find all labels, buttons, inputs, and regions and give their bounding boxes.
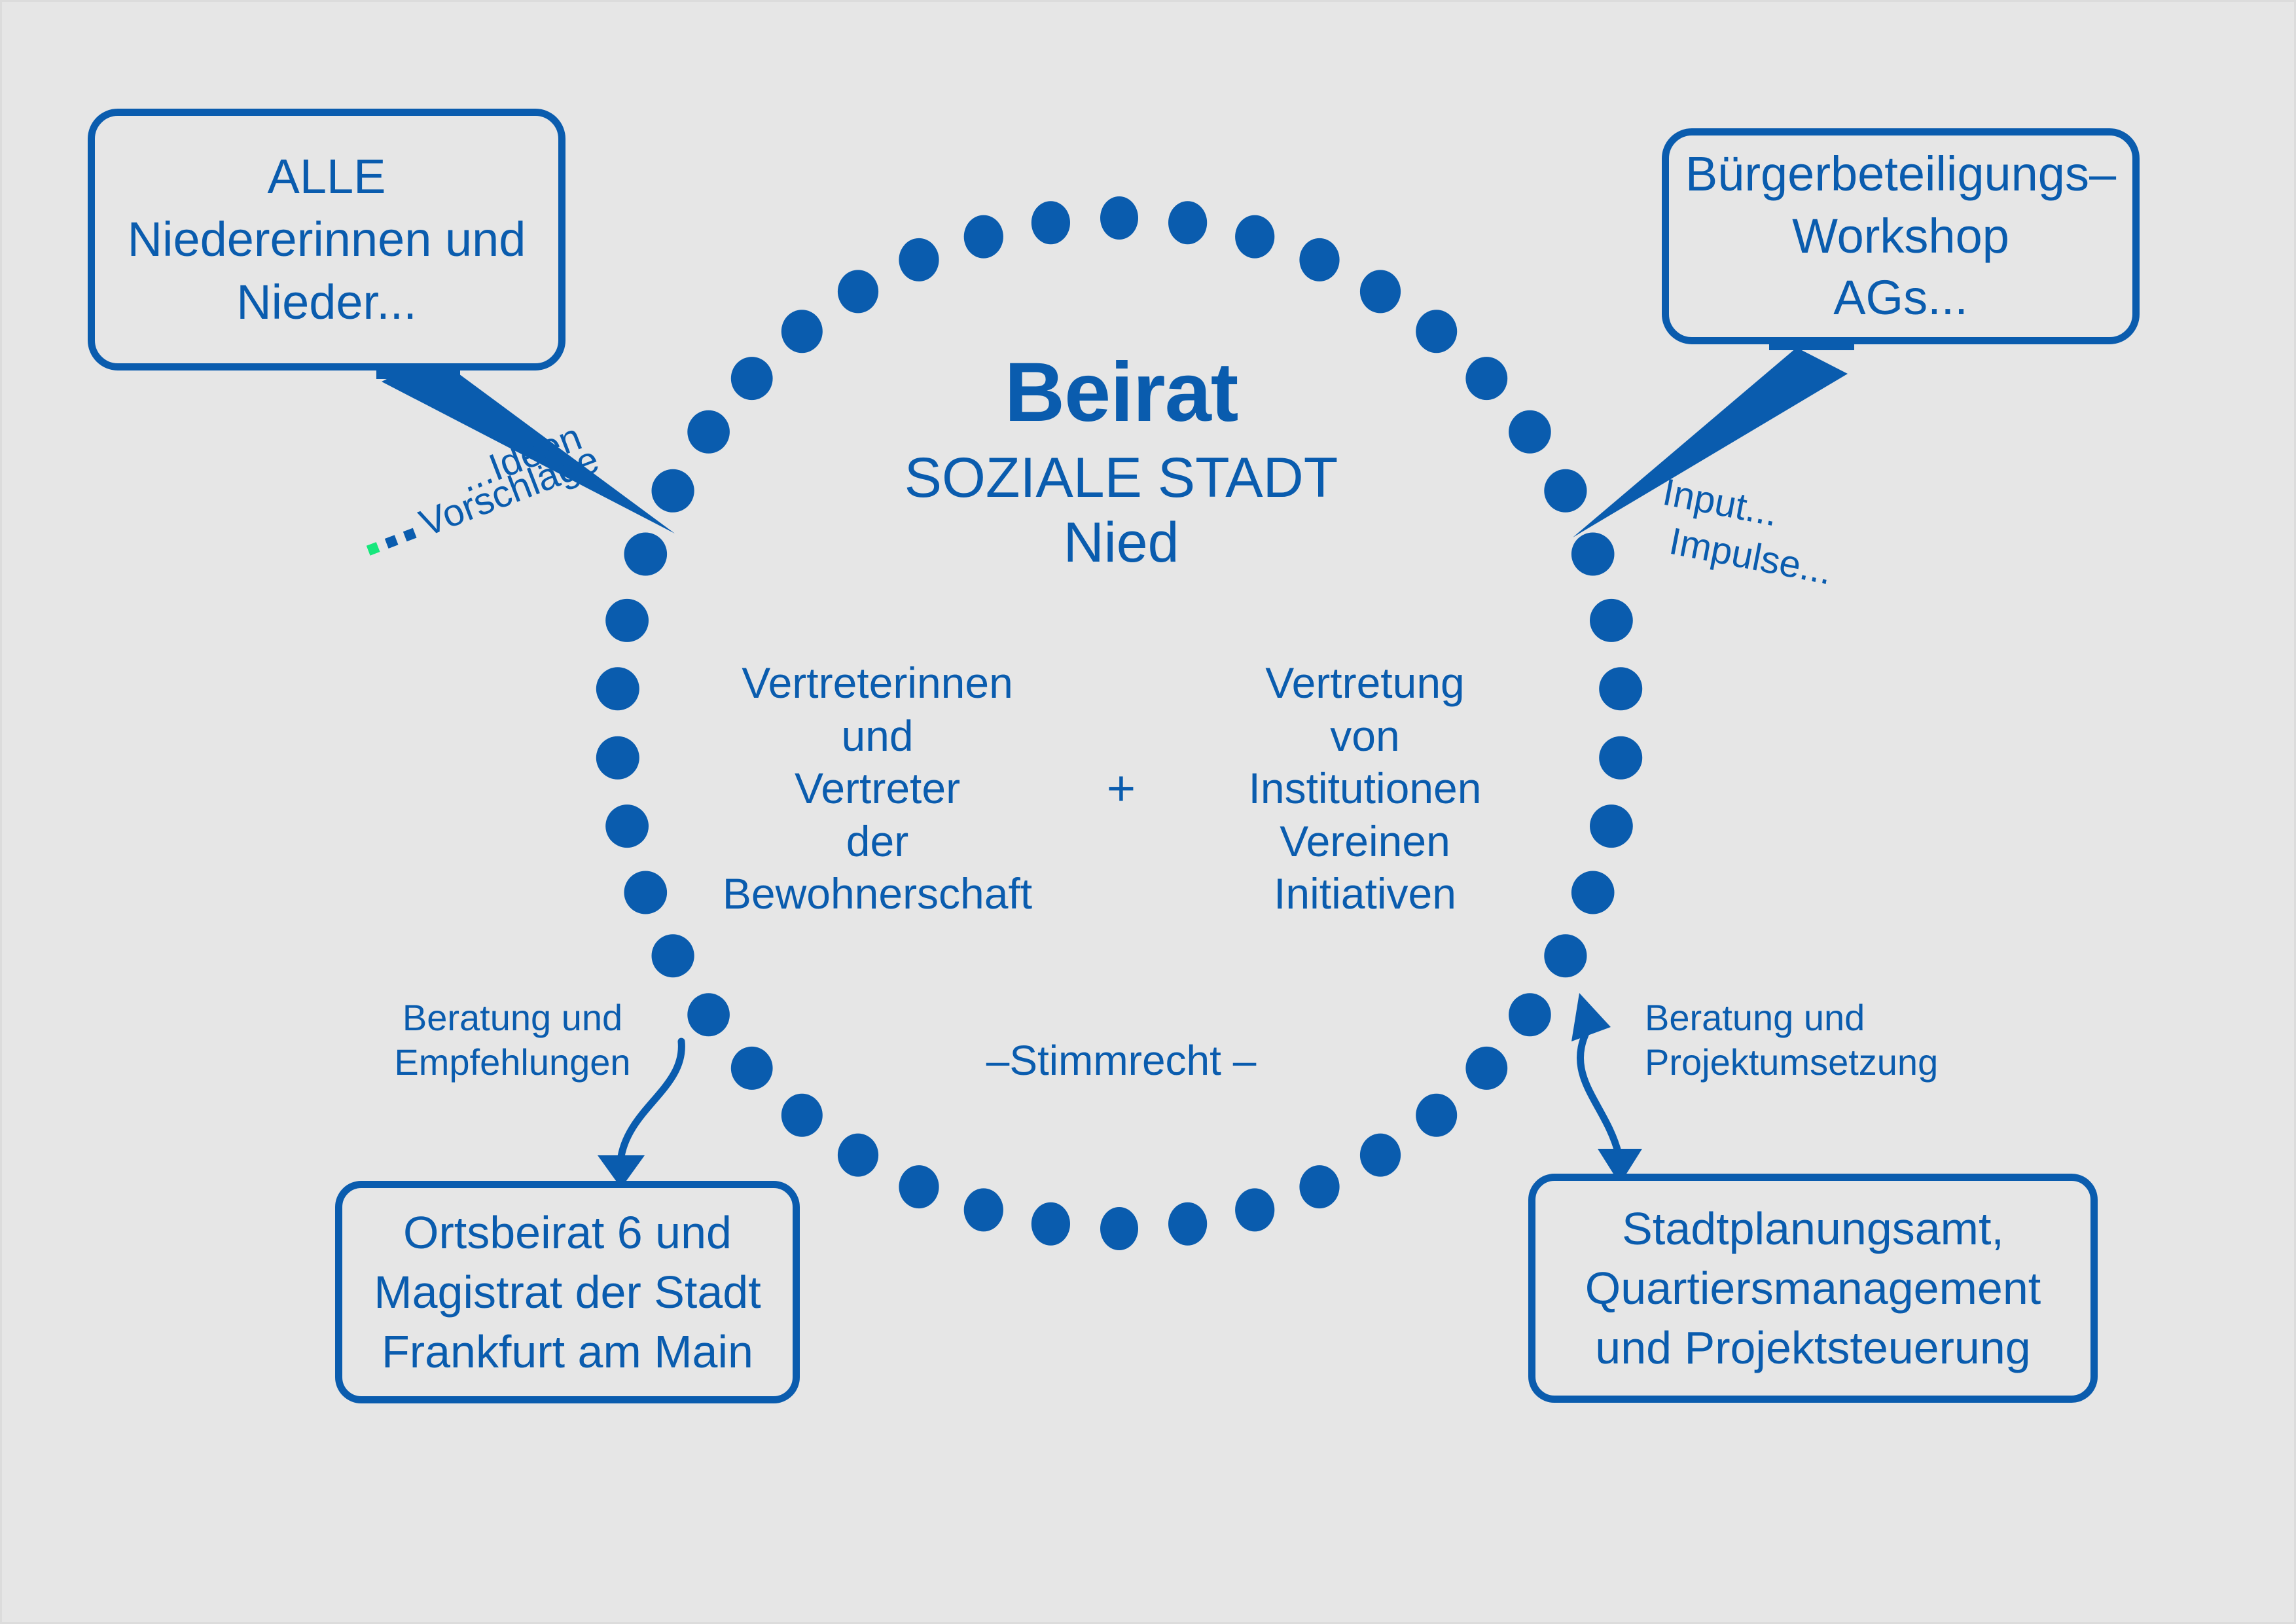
ring-dot <box>781 1094 823 1137</box>
bubble-line-1: Bürgerbeteiligungs– <box>1685 143 2116 206</box>
ring-dot <box>964 1188 1003 1231</box>
column-line: Initiativen <box>1164 867 1566 920</box>
bubble-line-2: Niedererinnen und <box>128 208 526 271</box>
ring-dot <box>1599 736 1642 780</box>
page-locality: Nied <box>696 511 1547 575</box>
ring-dot <box>731 1047 773 1090</box>
ring-dot <box>1031 1202 1070 1246</box>
ring-dot <box>1235 215 1274 259</box>
column-line: Vertreterinnen <box>676 657 1079 710</box>
ring-dot <box>687 993 730 1036</box>
speech-bubble-participation[interactable]: Bürgerbeteiligungs– Workshop AGs... <box>1662 128 2140 344</box>
column-line: Institutionen <box>1164 762 1566 815</box>
ring-dot <box>605 599 649 642</box>
label-line: Projektumsetzung <box>1645 1040 1952 1085</box>
ring-dot <box>1509 993 1551 1036</box>
column-line: Vereinen <box>1164 815 1566 868</box>
ring-dot <box>1416 310 1457 353</box>
ring-dot <box>1168 201 1207 244</box>
ring-dot <box>1544 469 1587 513</box>
column-line: und <box>676 710 1079 763</box>
ring-dot <box>1416 1094 1457 1137</box>
box-line: Quartiersmanagement <box>1585 1259 2041 1318</box>
diagram-canvas: ALLE Niedererinnen und Nieder... Bürgerb… <box>0 0 2296 1624</box>
ring-dot <box>899 1165 939 1208</box>
box-stadtplanungsamt[interactable]: Stadtplanungsamt, Quartiersmanagement un… <box>1528 1174 2098 1403</box>
page-subtitle: SOZIALE STADT <box>696 446 1547 511</box>
label-beratung-projektumsetzung: Beratung und Projektumsetzung <box>1645 996 1952 1085</box>
column-residents: Vertreterinnen und Vertreter der Bewohne… <box>676 657 1079 920</box>
box-line: Ortsbeirat 6 und <box>403 1203 732 1263</box>
ring-dot <box>596 736 639 780</box>
ring-dot <box>1100 196 1138 240</box>
bubble-line-3: AGs... <box>1833 267 1968 329</box>
label-line: Beratung und <box>1645 996 1952 1040</box>
ring-dot <box>652 469 694 513</box>
ring-dot <box>1599 667 1642 710</box>
bubble-line-3: Nieder... <box>236 271 417 334</box>
ring-dot <box>1360 1134 1401 1177</box>
leader-dot <box>385 535 399 549</box>
box-line: und Projektsteuerung <box>1595 1318 2030 1378</box>
label-line: Empfehlungen <box>375 1040 650 1085</box>
ring-dot <box>781 310 823 353</box>
leader-dot <box>403 528 417 542</box>
ring-dot <box>1360 270 1401 313</box>
speech-bubble-residents[interactable]: ALLE Niedererinnen und Nieder... <box>88 109 565 370</box>
column-line: von <box>1164 710 1566 763</box>
ring-dot <box>1299 238 1339 281</box>
ring-dot <box>1100 1207 1138 1250</box>
ring-dot <box>1235 1188 1274 1231</box>
ring-dot <box>838 1134 878 1177</box>
bubble-line-2: Workshop <box>1792 206 2009 268</box>
ring-dot <box>838 270 878 313</box>
label-beratung-empfehlungen: Beratung und Empfehlungen <box>375 996 650 1085</box>
ring-dot <box>1571 871 1615 914</box>
ring-dot <box>605 804 649 848</box>
ring-dot <box>1571 533 1615 576</box>
plus-operator: + <box>1079 760 1164 817</box>
ring-dot <box>1031 201 1070 244</box>
ring-dot <box>1168 1202 1207 1246</box>
membership-columns: Vertreterinnen und Vertreter der Bewohne… <box>676 657 1566 920</box>
ring-dot <box>596 667 639 710</box>
column-line: Bewohnerschaft <box>676 867 1079 920</box>
box-line: Magistrat der Stadt <box>374 1263 761 1322</box>
column-institutions: Vertretung von Institutionen Vereinen In… <box>1164 657 1566 920</box>
ring-dot <box>1544 934 1587 977</box>
page-title: Beirat <box>696 349 1547 437</box>
center-title-block: Beirat SOZIALE STADT Nied <box>696 349 1547 575</box>
bubble-line-1: ALLE <box>267 145 386 208</box>
column-line: Vertreter <box>676 762 1079 815</box>
box-line: Frankfurt am Main <box>382 1322 753 1382</box>
label-line: Beratung und <box>375 996 650 1040</box>
ring-dot <box>899 238 939 281</box>
ring-dot <box>1299 1165 1339 1208</box>
ring-dot <box>652 934 694 977</box>
voting-rights-note: –Stimmrecht – <box>892 1036 1350 1085</box>
ring-dot <box>1465 1047 1507 1090</box>
ring-dot <box>1590 599 1633 642</box>
ring-dot <box>624 871 668 914</box>
ring-dot <box>1590 804 1633 848</box>
ring-dot <box>964 215 1003 259</box>
column-line: der <box>676 815 1079 868</box>
ring-dot <box>624 533 668 576</box>
box-line: Stadtplanungsamt, <box>1622 1199 2004 1259</box>
column-line: Vertretung <box>1164 657 1566 710</box>
box-ortsbeirat-magistrat[interactable]: Ortsbeirat 6 und Magistrat der Stadt Fra… <box>335 1181 800 1403</box>
